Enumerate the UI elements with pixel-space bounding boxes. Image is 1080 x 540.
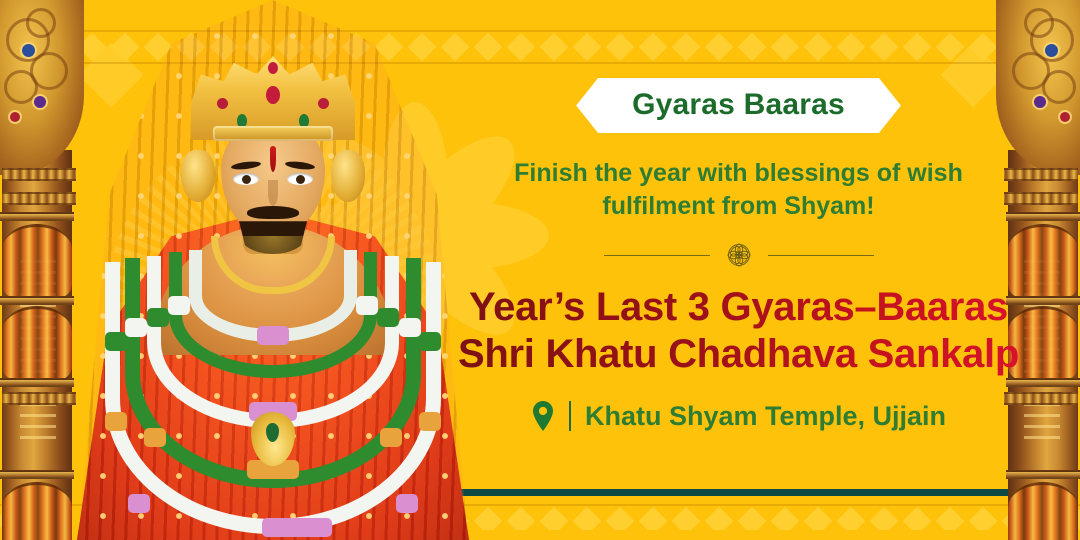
left-pillar-lotus-base bbox=[2, 482, 72, 540]
map-pin-icon bbox=[531, 400, 555, 432]
khatu-shyam-deity-image bbox=[78, 0, 468, 540]
left-pillar-lotus-mid bbox=[2, 306, 72, 380]
floral-rosette-icon bbox=[724, 240, 754, 270]
divider-line-left bbox=[604, 255, 710, 256]
deity-eye-left bbox=[233, 173, 259, 185]
deity-garland-inner bbox=[189, 250, 357, 342]
deity-ear-ornament-left bbox=[181, 150, 215, 202]
location-row: Khatu Shyam Temple, Ujjain bbox=[455, 400, 1022, 432]
location-text: Khatu Shyam Temple, Ujjain bbox=[585, 401, 946, 432]
headline-block: Year’s Last 3 Gyaras–Baaras Shri Khatu C… bbox=[455, 284, 1022, 378]
deity-eyebrow-right bbox=[285, 160, 316, 171]
floral-divider bbox=[604, 240, 874, 270]
divider-line-right bbox=[768, 255, 874, 256]
pillar-gem-blue bbox=[22, 44, 35, 57]
pillar-gem-blue bbox=[1045, 44, 1058, 57]
left-temple-pillar bbox=[0, 0, 86, 540]
pillar-gem-red bbox=[10, 112, 20, 122]
deity-moustache bbox=[247, 206, 299, 219]
pillar-gem-red bbox=[1060, 112, 1070, 122]
gyaras-baaras-badge: Gyaras Baaras bbox=[576, 78, 901, 133]
headline-line-2: Shri Khatu Chadhava Sankalp bbox=[455, 331, 1022, 378]
deity-tilak bbox=[270, 146, 276, 172]
gyaras-baaras-promo-banner: Gyaras Baaras Finish the year with bless… bbox=[0, 0, 1080, 540]
subtitle-line-2: fulfilment from Shyam! bbox=[479, 190, 999, 223]
deity-eyebrow-left bbox=[231, 160, 262, 171]
deity-eye-right bbox=[287, 173, 313, 185]
deity-crown-band bbox=[213, 126, 333, 141]
pillar-gem-purple bbox=[1034, 96, 1046, 108]
left-pillar-capital bbox=[0, 0, 84, 175]
left-pillar-lotus-upper bbox=[2, 224, 72, 298]
subtitle-block: Finish the year with blessings of wish f… bbox=[479, 157, 999, 222]
headline-line-1: Year’s Last 3 Gyaras–Baaras bbox=[455, 284, 1022, 331]
right-pillar-lotus-base bbox=[1008, 482, 1078, 540]
teal-divider-rule bbox=[455, 489, 1022, 496]
pillar-gem-purple bbox=[34, 96, 46, 108]
subtitle-line-1: Finish the year with blessings of wish bbox=[479, 157, 999, 190]
deity-nose bbox=[268, 180, 278, 206]
deity-ear-ornament-right bbox=[331, 150, 365, 202]
content-column: Gyaras Baaras Finish the year with bless… bbox=[455, 78, 1022, 432]
location-divider bbox=[569, 401, 571, 431]
